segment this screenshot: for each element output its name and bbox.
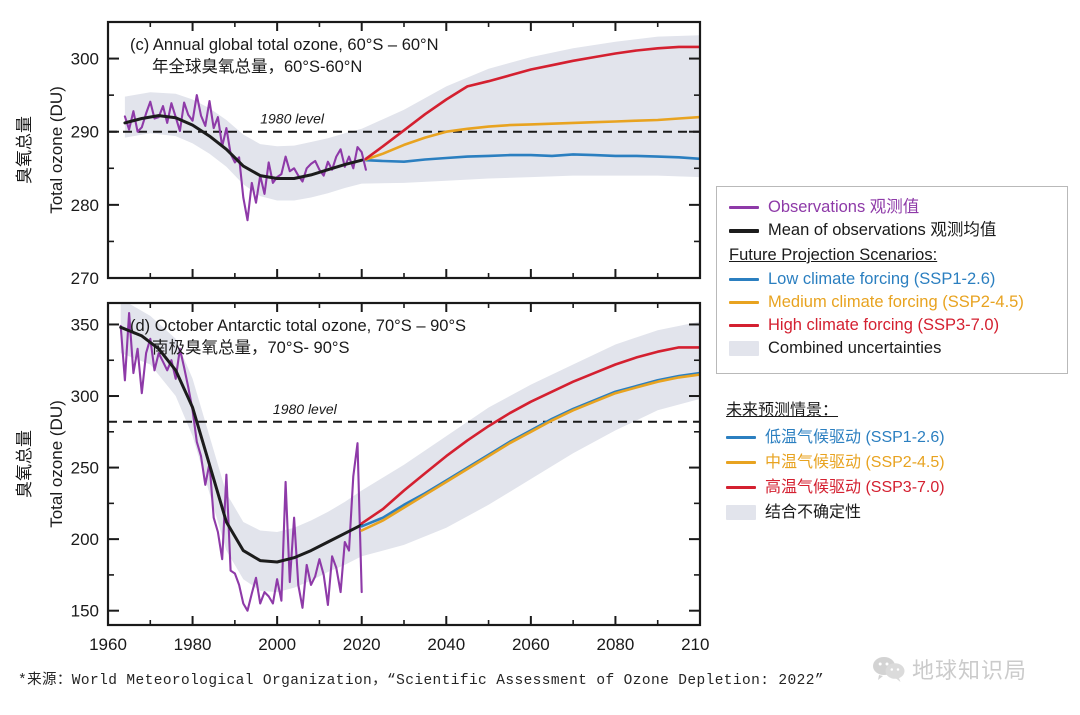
legend-heading-scenarios-cn: 未来预测情景：: [726, 396, 1072, 420]
y-tick-label: 350: [71, 315, 99, 334]
legend-label-uncertainty-cn: 结合不确定性: [765, 505, 861, 521]
legend-chinese: 未来预测情景： 低温气候驱动 (SSP1-2.6) 中温气候驱动 (SSP2-4…: [726, 392, 1072, 525]
observations-line-swatch: [729, 206, 759, 209]
legend-item-low-forcing: Low climate forcing (SSP1-2.6): [729, 268, 1057, 291]
panel-title-cn: 南极臭氧总量，70°S- 90°S: [152, 338, 350, 357]
y-tick-label: 270: [71, 269, 99, 288]
x-tick-label: 2100: [681, 635, 710, 654]
x-tick-label: 2020: [343, 635, 381, 654]
legend-label-mean: Mean of observations 观测均值: [768, 222, 996, 239]
y-tick-label: 280: [71, 196, 99, 215]
legend-item-medium-forcing: Medium climate forcing (SSP2-4.5): [729, 291, 1057, 314]
x-tick-label: 1980: [174, 635, 212, 654]
legend-item-observations: Observations 观测值: [729, 196, 1057, 219]
y-axis-title-cn: 臭氧总量: [15, 430, 34, 498]
legend-label-low-forcing: Low climate forcing (SSP1-2.6): [768, 271, 995, 288]
legend-item-medium-forcing-cn: 中温气候驱动 (SSP2-4.5): [726, 450, 1072, 475]
legend-english: Observations 观测值 Mean of observations 观测…: [716, 186, 1068, 374]
legend-label-high-forcing: High climate forcing (SSP3-7.0): [768, 317, 999, 334]
medium-forcing-line-swatch-cn: [726, 461, 756, 464]
legend-item-uncertainty-cn: 结合不确定性: [726, 500, 1072, 525]
level-1980-label: 1980 level: [273, 401, 338, 417]
y-tick-label: 150: [71, 602, 99, 621]
legend-label-low-forcing-cn: 低温气候驱动 (SSP1-2.6): [765, 430, 945, 446]
x-tick-label: 2040: [427, 635, 465, 654]
y-axis-title: Total ozone (DU): [47, 400, 66, 528]
y-tick-label: 250: [71, 459, 99, 478]
low-forcing-line-swatch-cn: [726, 436, 756, 439]
legend-label-observations: Observations 观测值: [768, 199, 919, 216]
level-1980-label: 1980 level: [260, 111, 325, 127]
ozone-figure: 270280290300(c) Annual global total ozon…: [0, 0, 1080, 715]
panel-title: (c) Annual global total ozone, 60°S – 60…: [130, 36, 439, 54]
panel-d: 1960198020002020204020602080210015020025…: [15, 299, 710, 654]
y-axis-title-cn: 臭氧总量: [15, 116, 34, 184]
x-tick-label: 2000: [258, 635, 296, 654]
uncertainty-band-swatch: [729, 341, 759, 356]
legend-item-mean: Mean of observations 观测均值: [729, 219, 1057, 242]
y-tick-label: 300: [71, 50, 99, 69]
y-tick-label: 290: [71, 123, 99, 142]
wechat-icon: [872, 656, 906, 682]
high-forcing-line-swatch: [729, 324, 759, 327]
y-tick-label: 300: [71, 387, 99, 406]
mean-line-swatch: [729, 229, 759, 233]
panel-title: (d) October Antarctic total ozone, 70°S …: [130, 317, 466, 335]
watermark-text: 地球知识局: [912, 653, 1027, 685]
x-tick-label: 2060: [512, 635, 550, 654]
charts-container: 270280290300(c) Annual global total ozon…: [0, 0, 710, 660]
legend-label-medium-forcing-cn: 中温气候驱动 (SSP2-4.5): [765, 455, 945, 471]
legend-label-high-forcing-cn: 高温气候驱动 (SSP3-7.0): [765, 480, 945, 496]
legend-item-low-forcing-cn: 低温气候驱动 (SSP1-2.6): [726, 425, 1072, 450]
panel-c: 270280290300(c) Annual global total ozon…: [15, 22, 700, 288]
y-axis-title: Total ozone (DU): [47, 86, 66, 214]
medium-forcing-line-swatch: [729, 301, 759, 304]
legend-item-high-forcing-cn: 高温气候驱动 (SSP3-7.0): [726, 475, 1072, 500]
high-forcing-line-swatch-cn: [726, 486, 756, 489]
panel-title-cn: 年全球臭氧总量，60°S-60°N: [152, 57, 362, 76]
y-tick-label: 200: [71, 530, 99, 549]
legend-label-uncertainty: Combined uncertainties: [768, 340, 941, 357]
low-forcing-line-swatch: [729, 278, 759, 281]
legend-item-uncertainty: Combined uncertainties: [729, 337, 1057, 360]
ozone-chart-svg: 270280290300(c) Annual global total ozon…: [0, 0, 710, 662]
source-footnote: *来源：World Meteorological Organization，“S…: [18, 668, 824, 689]
x-tick-label: 2080: [597, 635, 635, 654]
legend-label-medium-forcing: Medium climate forcing (SSP2-4.5): [768, 294, 1024, 311]
x-tick-label: 1960: [89, 635, 127, 654]
watermark: 地球知识局: [872, 653, 1027, 685]
uncertainty-band-swatch-cn: [726, 505, 756, 520]
legend-heading-scenarios: Future Projection Scenarios:: [729, 246, 1057, 265]
legend-item-high-forcing: High climate forcing (SSP3-7.0): [729, 314, 1057, 337]
